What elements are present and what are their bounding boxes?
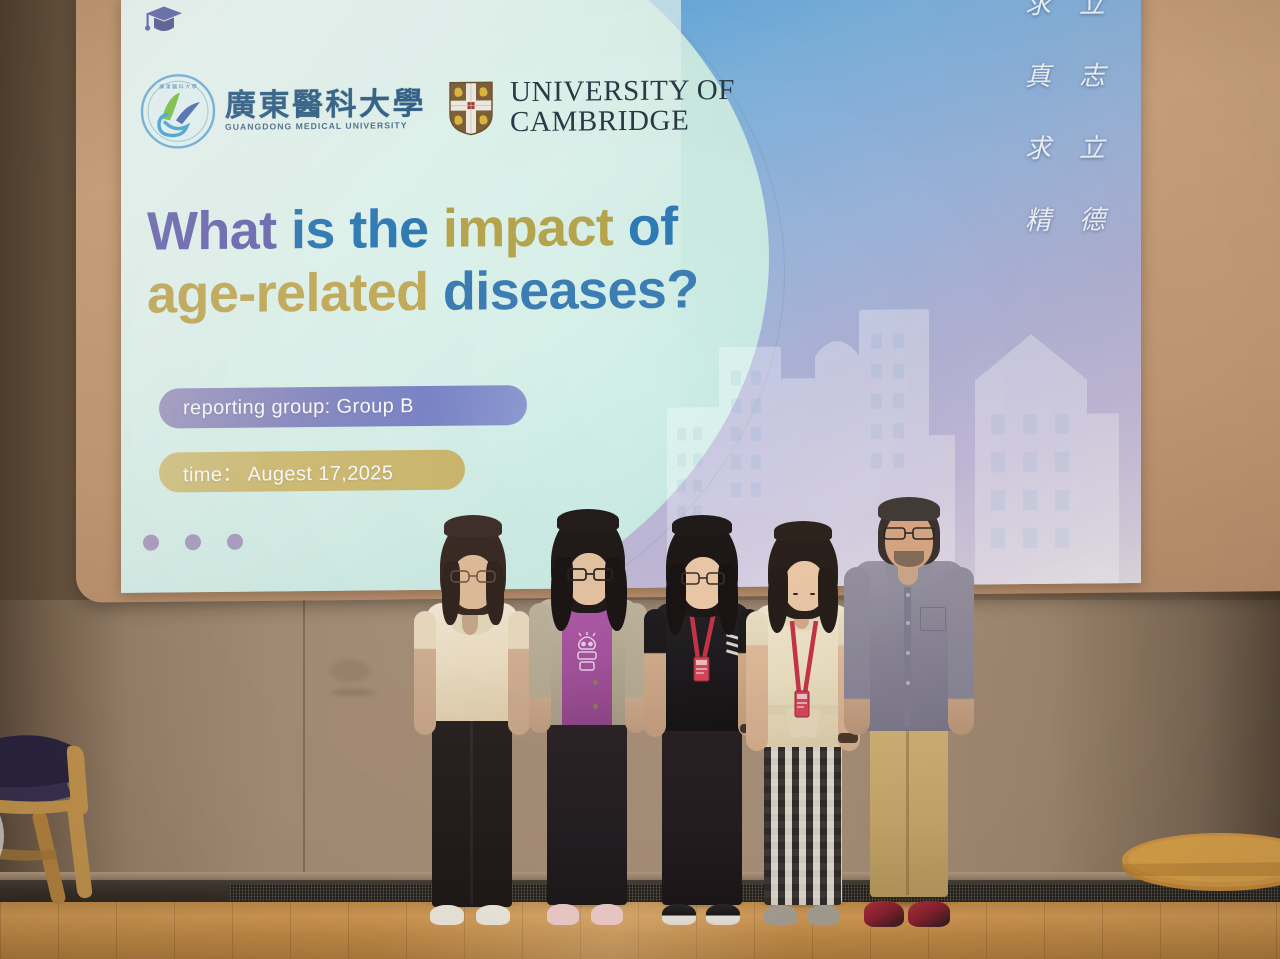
slide-dots — [143, 534, 243, 551]
title-word-is-the: is the — [291, 199, 428, 260]
slide-title-line-2: age-related diseases? — [147, 257, 827, 326]
wall-scuff — [330, 660, 370, 682]
person-4-lanyard — [778, 621, 830, 731]
cambridge-wordmark: UNIVERSITY OF CAMBRIDGE — [510, 76, 735, 137]
slide-dot — [227, 534, 243, 550]
slide-title-line-1: What is the impact of — [147, 194, 827, 263]
person-1-shoe-left — [430, 905, 464, 925]
slide-dot — [143, 535, 159, 551]
person-4-shoe-right — [807, 905, 840, 925]
title-word-diseases: diseases? — [443, 259, 699, 321]
wall-scuff — [330, 690, 376, 695]
motto-char: 精 — [1025, 208, 1051, 234]
cambridge-line-2: CAMBRIDGE — [510, 106, 735, 138]
title-word-what: What — [147, 200, 277, 261]
person-2-trousers — [547, 701, 627, 905]
slide-title: What is the impact of age-related diseas… — [147, 194, 827, 326]
motto-char: 立 — [1079, 135, 1105, 161]
armchair — [0, 726, 180, 916]
person-2-shoe-left — [547, 904, 579, 925]
person-5-shoe-left — [864, 901, 904, 927]
time-pill: time： Augest 17,2025 — [159, 450, 465, 493]
motto-char: 志 — [1079, 63, 1105, 89]
title-word-impact: impact — [443, 197, 613, 259]
gmu-chinese-name: 廣東醫科大學 — [225, 88, 426, 121]
round-table — [1110, 828, 1280, 906]
person-3-glasses — [681, 571, 725, 585]
slide-dot — [185, 534, 201, 550]
gmu-english-name: GUANGDONG MEDICAL UNIVERSITY — [225, 120, 426, 132]
motto-char: 求 — [1025, 0, 1051, 18]
cambridge-shield-icon — [448, 80, 494, 136]
title-word-of: of — [628, 197, 678, 257]
person-1 — [414, 511, 532, 931]
person-2-glasses — [567, 567, 613, 581]
university-motto: 求 真 求 精 立 志 立 德 — [1025, 0, 1105, 234]
person-3 — [644, 513, 760, 931]
presentation-slide: 廣 東 醫 科 大 學 廣東醫科大學 GUANGDONG MEDICAL UNI… — [121, 0, 1141, 593]
person-3-shoe-right — [706, 904, 740, 925]
wall-seam — [303, 596, 305, 896]
motto-char: 真 — [1025, 64, 1051, 90]
person-2-tshirt-graphic — [571, 631, 603, 681]
person-5-shoe-right — [908, 901, 950, 927]
person-3-trousers — [662, 709, 742, 905]
person-4 — [748, 521, 858, 931]
person-3-shoe-left — [662, 904, 696, 925]
motto-column-right: 立 志 立 德 — [1079, 0, 1105, 234]
cambridge-line-1: UNIVERSITY OF — [510, 76, 735, 108]
gmu-logo-icon: 廣 東 醫 科 大 學 — [139, 72, 217, 151]
motto-char: 立 — [1079, 0, 1105, 18]
gmu-logo-text: 廣東醫科大學 GUANGDONG MEDICAL UNIVERSITY — [225, 88, 426, 132]
reporting-group-pill: reporting group: Group B — [159, 385, 527, 429]
person-2 — [529, 506, 647, 931]
title-word-age-related: age-related — [147, 262, 429, 325]
motto-column-left: 求 真 求 精 — [1025, 0, 1051, 234]
person-5-glasses — [882, 525, 936, 541]
graduation-cap-icon — [143, 2, 185, 36]
person-5-trousers — [870, 721, 948, 897]
logo-row: 廣 東 醫 科 大 學 廣東醫科大學 GUANGDONG MEDICAL UNI… — [139, 67, 735, 151]
person-1-shoe-right — [476, 905, 510, 925]
person-4-shoe-left — [764, 905, 797, 925]
svg-text:廣 東 醫 科 大 學: 廣 東 醫 科 大 學 — [159, 82, 197, 90]
photograph-scene: 廣 東 醫 科 大 學 廣東醫科大學 GUANGDONG MEDICAL UNI… — [0, 0, 1280, 959]
projection-screen: 廣 東 醫 科 大 學 廣東醫科大學 GUANGDONG MEDICAL UNI… — [121, 0, 1141, 593]
person-5 — [848, 479, 970, 931]
person-4-trousers — [764, 727, 842, 905]
person-1-glasses — [450, 569, 496, 583]
motto-char: 德 — [1079, 207, 1105, 233]
person-2-shoe-right — [591, 904, 623, 925]
motto-char: 求 — [1025, 136, 1051, 162]
